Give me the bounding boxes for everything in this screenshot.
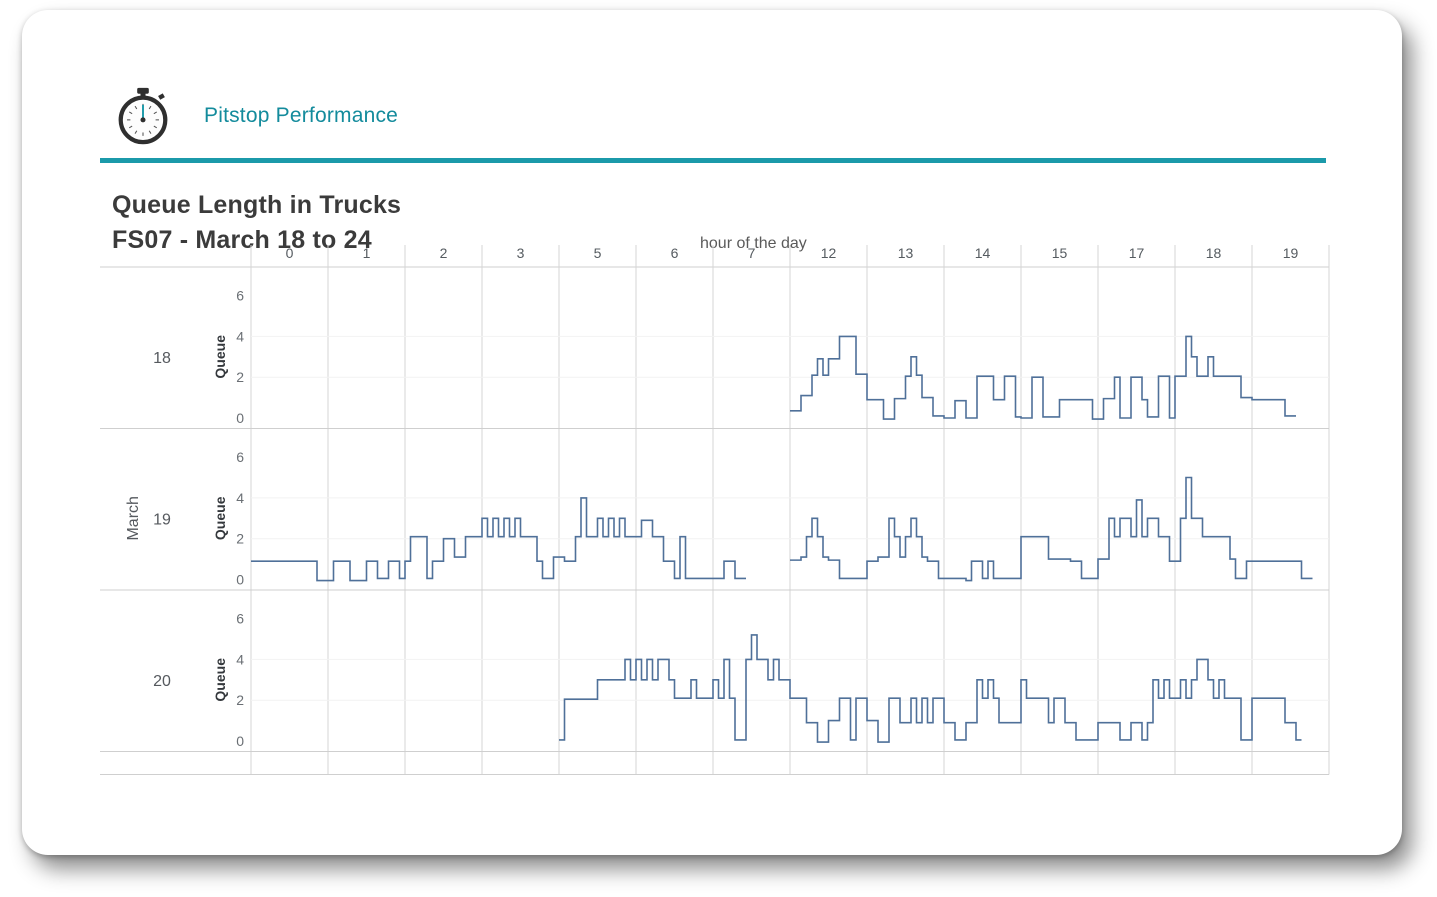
row-label-day: 18: [153, 350, 171, 367]
y-axis-tick-label: 0: [236, 410, 244, 426]
y-axis-title: Queue: [212, 658, 228, 702]
y-axis-tick-label: 2: [236, 369, 244, 385]
x-axis-tick-label: 2: [440, 245, 448, 261]
page-root: Pitstop Performance Queue Length in Truc…: [0, 0, 1437, 897]
brand-divider: [100, 158, 1326, 163]
x-axis-tick-label: 3: [517, 245, 525, 261]
chart-gridlines: [100, 245, 1329, 775]
row-label-day: 20: [153, 673, 171, 690]
y-axis-tick-label: 4: [236, 490, 244, 506]
dashboard-card: Pitstop Performance Queue Length in Truc…: [22, 10, 1402, 855]
stopwatch-icon: [112, 85, 174, 147]
row-group-title: March: [125, 496, 142, 540]
y-axis-tick-label: 0: [236, 733, 244, 749]
x-axis-tick-label: 6: [671, 245, 679, 261]
series-line-day-20: [559, 635, 1302, 742]
x-axis-tick-label: 14: [975, 245, 991, 261]
row-label-day: 19: [153, 511, 171, 528]
x-axis-title: hour of the day: [700, 235, 807, 253]
y-axis-title: Queue: [212, 496, 228, 540]
y-axis-tick-label: 2: [236, 692, 244, 708]
chart-subtitle: FS07 - March 18 to 24: [112, 223, 372, 258]
chart-title: Queue Length in Trucks: [112, 188, 401, 223]
x-axis-tick-label: 18: [1206, 245, 1222, 261]
x-axis-tick-label: 12: [821, 245, 837, 261]
y-axis-tick-label: 6: [236, 611, 244, 627]
x-axis-tick-label: 5: [594, 245, 602, 261]
y-axis-tick-label: 0: [236, 572, 244, 588]
chart-labels: 0123567121314151718190246Queue180246Queu…: [125, 245, 1298, 749]
series-line-day-18: [790, 336, 1296, 419]
chart-series-group: [251, 336, 1313, 742]
x-axis-tick-label: 15: [1052, 245, 1068, 261]
brand-row: Pitstop Performance: [112, 78, 398, 154]
y-axis-tick-label: 2: [236, 531, 244, 547]
y-axis-tick-label: 4: [236, 651, 244, 667]
y-axis-tick-label: 6: [236, 449, 244, 465]
x-axis-tick-label: 17: [1129, 245, 1145, 261]
y-axis-tick-label: 4: [236, 328, 244, 344]
brand-title: Pitstop Performance: [204, 104, 398, 128]
series-line-day-19: [251, 478, 1313, 581]
x-axis-tick-label: 19: [1283, 245, 1299, 261]
y-axis-tick-label: 6: [236, 288, 244, 304]
y-axis-title: Queue: [212, 335, 228, 379]
x-axis-tick-label: 13: [898, 245, 914, 261]
